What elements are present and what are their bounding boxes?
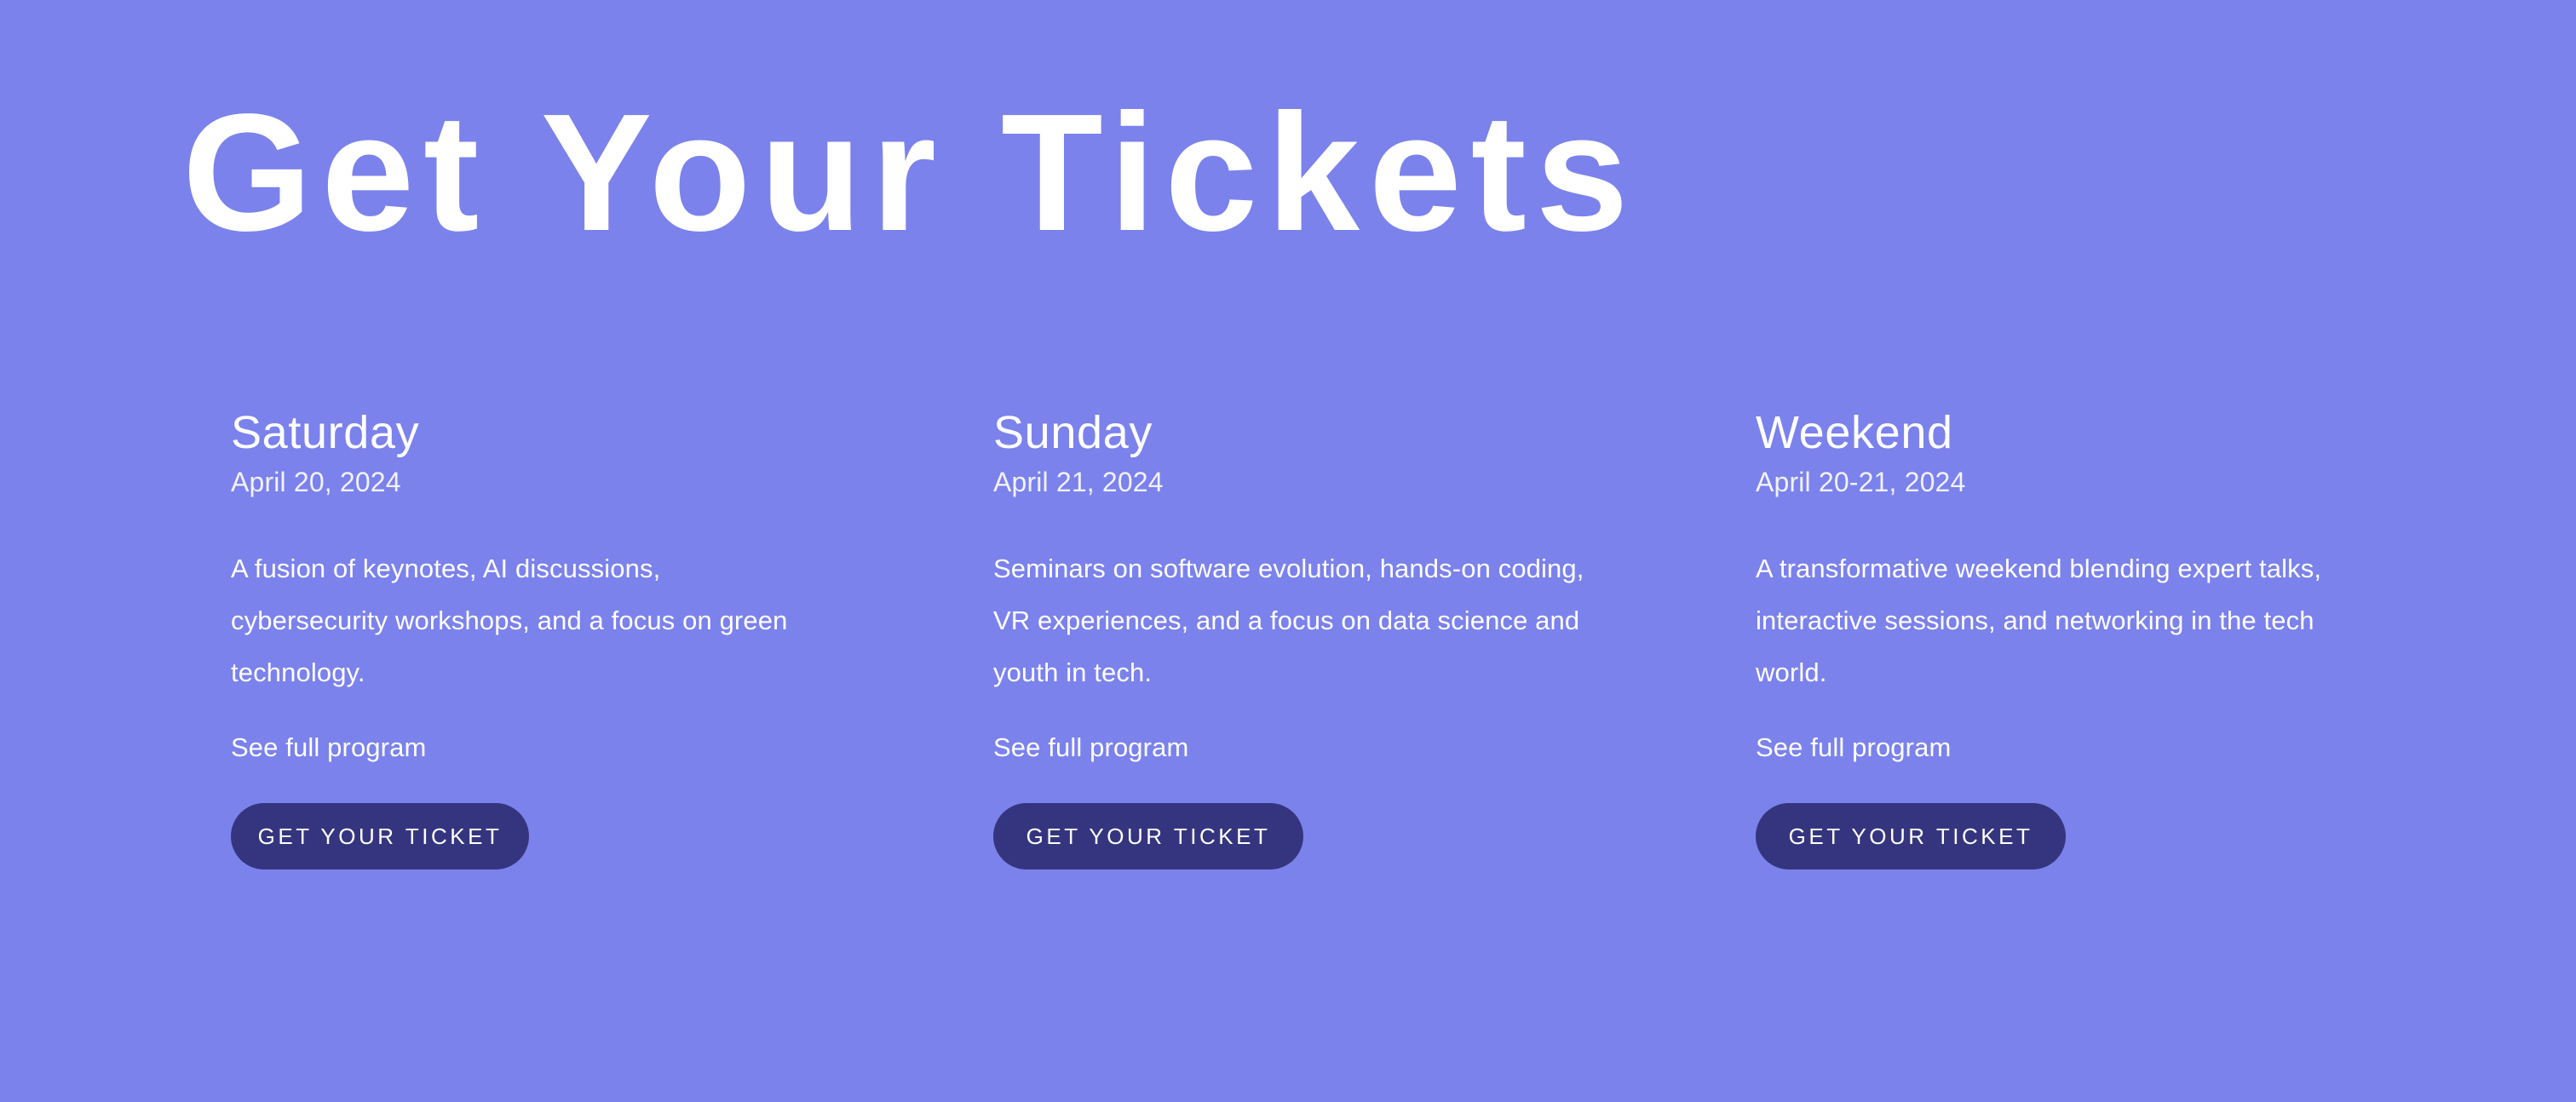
page-title: Get Your Tickets <box>182 89 1637 256</box>
ticket-title: Saturday <box>231 407 993 458</box>
see-full-program-link[interactable]: See full program <box>993 731 1188 765</box>
ticket-title: Weekend <box>1756 407 2518 458</box>
ticket-card-saturday: Saturday April 20, 2024 A fusion of keyn… <box>231 407 993 870</box>
ticket-date: April 20, 2024 <box>231 465 993 501</box>
see-full-program-link[interactable]: See full program <box>1756 731 1951 765</box>
get-your-ticket-button[interactable]: GET YOUR TICKET <box>1756 803 2066 870</box>
get-your-ticket-button[interactable]: GET YOUR TICKET <box>231 803 529 870</box>
ticket-card-sunday: Sunday April 21, 2024 Seminars on softwa… <box>993 407 1756 870</box>
ticket-date: April 21, 2024 <box>993 465 1756 501</box>
ticket-card-weekend: Weekend April 20-21, 2024 A transformati… <box>1756 407 2518 870</box>
tickets-page: Get Your Tickets Saturday April 20, 2024… <box>0 0 2576 1102</box>
ticket-date: April 20-21, 2024 <box>1756 465 2518 501</box>
get-your-ticket-button[interactable]: GET YOUR TICKET <box>993 803 1303 870</box>
ticket-description: A fusion of keynotes, AI discussions, cy… <box>231 543 793 698</box>
ticket-title: Sunday <box>993 407 1756 458</box>
ticket-description: Seminars on software evolution, hands-on… <box>993 543 1590 698</box>
see-full-program-link[interactable]: See full program <box>231 731 426 765</box>
ticket-columns: Saturday April 20, 2024 A fusion of keyn… <box>0 407 2576 870</box>
ticket-description: A transformative weekend blending expert… <box>1756 543 2352 698</box>
